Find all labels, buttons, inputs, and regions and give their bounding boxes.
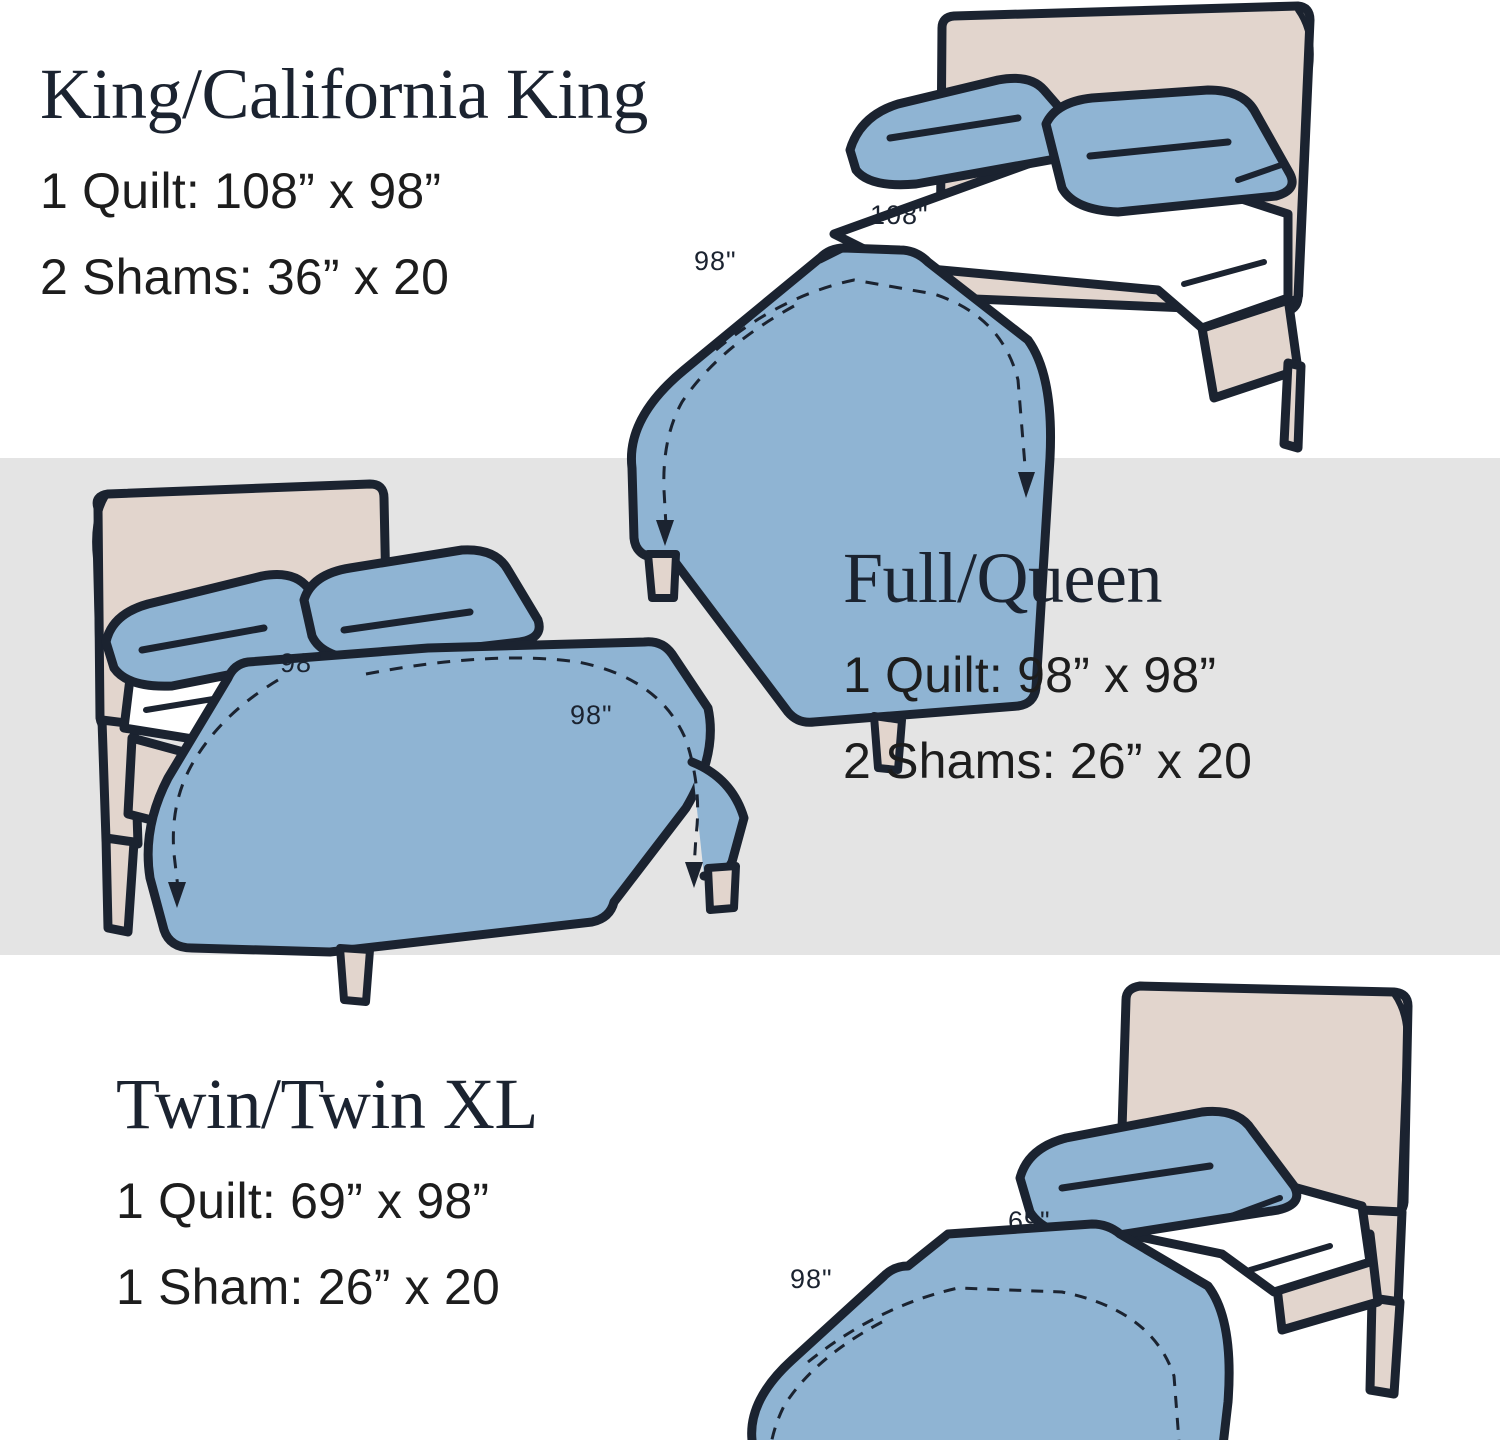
queen-leg-right <box>708 866 736 910</box>
king-leg-rear-right <box>1284 363 1301 448</box>
king-length-label: 98" <box>694 246 737 276</box>
twin-quilt <box>752 1224 1229 1440</box>
king-width-label: 108" <box>870 200 929 230</box>
queen-leg-left <box>106 838 134 932</box>
twin-length-label: 98" <box>790 1264 833 1294</box>
twin-bed-illustration: 69" 98" <box>722 962 1462 1440</box>
full-queen-bed-illustration: 98" 98" <box>72 462 832 954</box>
queen-width-label: 98" <box>570 700 613 730</box>
queen-quilt <box>148 642 710 952</box>
queen-quilt-flap <box>692 762 744 876</box>
twin-heading: Twin/Twin XL <box>116 1068 538 1140</box>
twin-text-block: Twin/Twin XL 1 Quilt: 69” x 98” 1 Sham: … <box>116 1068 538 1312</box>
full-queen-quilt-line: 1 Quilt: 98” x 98” <box>843 650 1252 700</box>
king-bed-illustration: 108" 98" <box>598 0 1418 458</box>
king-heading: King/California King <box>40 58 648 130</box>
queen-leg-front <box>340 948 370 1002</box>
queen-length-label: 98" <box>280 648 323 678</box>
full-queen-text-block: Full/Queen 1 Quilt: 98” x 98” 2 Shams: 2… <box>843 542 1252 786</box>
king-shams-line: 2 Shams: 36” x 20 <box>40 252 648 302</box>
twin-sham-line: 1 Sham: 26” x 20 <box>116 1262 538 1312</box>
full-queen-shams-line: 2 Shams: 26” x 20 <box>843 736 1252 786</box>
king-text-block: King/California King 1 Quilt: 108” x 98”… <box>40 58 648 302</box>
bedding-size-guide: King/California King 1 Quilt: 108” x 98”… <box>0 0 1500 1440</box>
full-queen-heading: Full/Queen <box>843 542 1252 614</box>
king-quilt-line: 1 Quilt: 108” x 98” <box>40 166 648 216</box>
twin-width-label: 69" <box>1008 1206 1051 1236</box>
twin-leg-right <box>1370 1298 1400 1394</box>
twin-quilt-line: 1 Quilt: 69” x 98” <box>116 1176 538 1226</box>
